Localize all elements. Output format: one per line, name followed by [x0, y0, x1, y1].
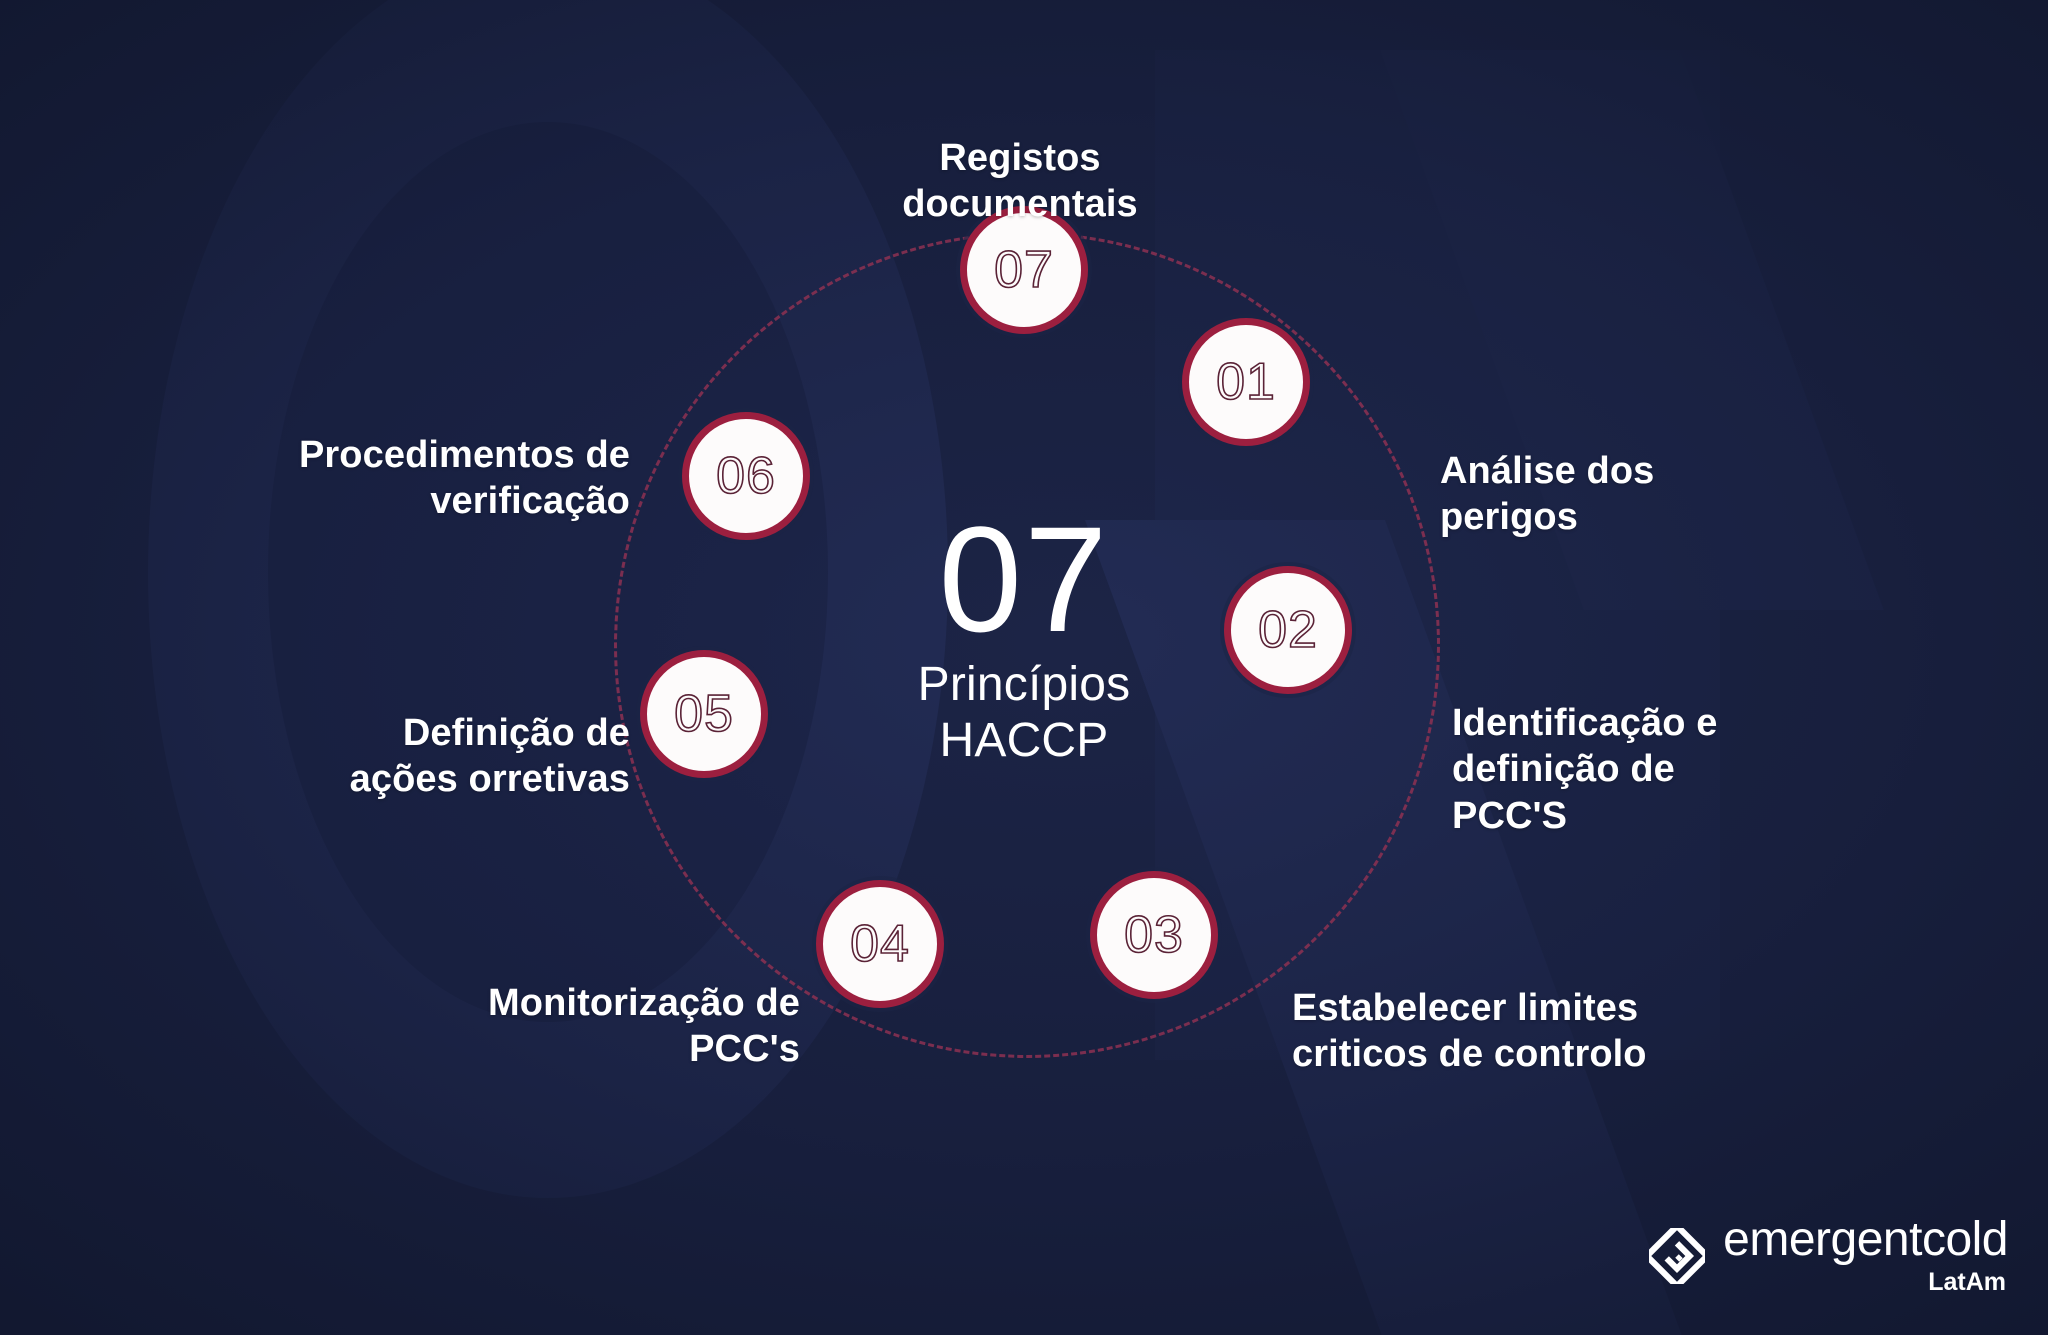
center-subtitle: Princípios HACCP: [824, 657, 1224, 770]
label-02-line1: Identificação e: [1452, 702, 1717, 744]
label-04-line1: Monitorização de: [488, 982, 800, 1024]
infographic-canvas: 07 Princípios HACCP 07 01 02 03 04 05 06…: [0, 0, 2048, 1335]
emergentcold-diamond-icon: [1649, 1228, 1705, 1284]
label-06-line1: Procedimentos de: [299, 434, 630, 476]
logo-text-block: emergentcold LatAm: [1723, 1216, 2008, 1295]
label-06-line2: verificação: [430, 480, 630, 522]
label-01-line2: perigos: [1440, 496, 1578, 538]
node-circle-06[interactable]: 06: [682, 412, 810, 540]
node-number-01: 01: [1216, 356, 1276, 408]
label-principle-07: Registos documentais: [830, 135, 1210, 228]
node-number-07: 07: [994, 244, 1054, 296]
label-07-line1: Registos: [939, 137, 1100, 179]
label-principle-04: Monitorização de PCC's: [330, 980, 800, 1073]
node-circle-01[interactable]: 01: [1182, 318, 1310, 446]
center-subtitle-line1: Princípios: [918, 658, 1131, 711]
label-04-line2: PCC's: [689, 1028, 800, 1070]
logo-wordmark: emergentcold: [1723, 1216, 2008, 1264]
label-03-line2: criticos de controlo: [1292, 1033, 1647, 1075]
label-05-line1: Definição de: [403, 712, 630, 754]
node-number-03: 03: [1124, 909, 1184, 961]
node-number-04: 04: [850, 918, 910, 970]
label-02-line3: PCC'S: [1452, 795, 1567, 837]
label-02-line2: definição de: [1452, 748, 1675, 790]
node-circle-02[interactable]: 02: [1224, 566, 1352, 694]
node-circle-04[interactable]: 04: [816, 880, 944, 1008]
center-block: 07 Princípios HACCP: [824, 508, 1224, 770]
node-number-05: 05: [674, 688, 734, 740]
label-principle-03: Estabelecer limites criticos de controlo: [1292, 985, 1762, 1078]
center-subtitle-line2: HACCP: [939, 714, 1108, 767]
label-03-line1: Estabelecer limites: [1292, 987, 1638, 1029]
label-01-line1: Análise dos: [1440, 450, 1654, 492]
label-principle-02: Identificação e definição de PCC'S: [1452, 700, 1872, 839]
center-number: 07: [824, 508, 1224, 651]
logo-region: LatAm: [1928, 1270, 2006, 1295]
label-05-line2: ações orretivas: [350, 758, 630, 800]
label-principle-06: Procedimentos de verificação: [170, 432, 630, 525]
label-principle-05: Definição de ações orretivas: [240, 710, 630, 803]
node-circle-03[interactable]: 03: [1090, 871, 1218, 999]
node-number-06: 06: [716, 450, 776, 502]
label-07-line2: documentais: [902, 183, 1137, 225]
brand-logo: emergentcold LatAm: [1649, 1216, 2008, 1295]
node-number-02: 02: [1258, 604, 1318, 656]
label-principle-01: Análise dos perigos: [1440, 448, 1860, 541]
node-circle-05[interactable]: 05: [640, 650, 768, 778]
